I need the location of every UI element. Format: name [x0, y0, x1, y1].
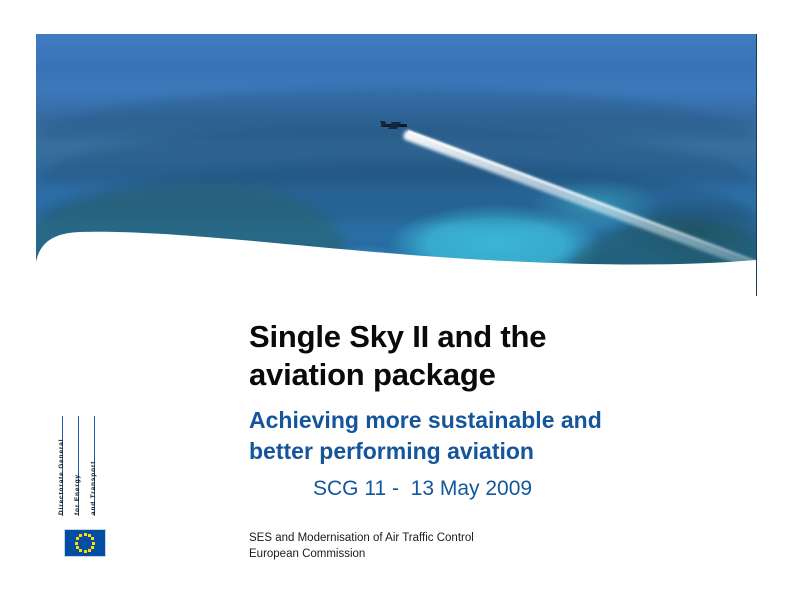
- eu-star-icon: [91, 537, 94, 540]
- eu-star-icon: [84, 550, 87, 553]
- dg-column-3: and Transport: [94, 416, 110, 516]
- eu-star-icon: [92, 542, 95, 545]
- airplane-wing: [388, 122, 401, 129]
- title-photo: [36, 34, 757, 296]
- eu-star-icon: [91, 546, 94, 549]
- eu-star-icon: [79, 549, 82, 552]
- eu-star-icon: [76, 546, 79, 549]
- subtitle-line-1: Achieving more sustainable and: [249, 405, 729, 436]
- eu-star-icon: [76, 537, 79, 540]
- dg-line-1: Directorate General: [58, 439, 65, 515]
- title-line-1: Single Sky II and the: [249, 318, 719, 356]
- dg-line-2: for Energy: [74, 474, 81, 515]
- dg-line-3: and Transport: [90, 461, 97, 515]
- page-title: Single Sky II and the aviation package: [249, 318, 719, 394]
- title-line-2: aviation package: [249, 356, 719, 394]
- airplane-tail: [380, 121, 387, 126]
- eu-star-icon: [75, 542, 78, 545]
- event-date-line: SCG 11 - 13 May 2009: [313, 477, 532, 501]
- eu-star-icon: [88, 549, 91, 552]
- eu-star-icon: [84, 533, 87, 536]
- eu-flag-icon: [64, 529, 106, 557]
- airplane-icon: [381, 122, 407, 129]
- presentation-slide: Directorate General for Energy and Trans…: [0, 0, 792, 612]
- white-wave-overlay: [36, 208, 756, 296]
- footer-line-1: SES and Modernisation of Air Traffic Con…: [249, 530, 474, 546]
- subtitle-line-2: better performing aviation: [249, 436, 729, 467]
- eu-star-icon: [79, 534, 82, 537]
- footer-line-2: European Commission: [249, 546, 474, 562]
- directorate-general-mark: Directorate General for Energy and Trans…: [62, 416, 108, 516]
- page-subtitle: Achieving more sustainable and better pe…: [249, 405, 729, 466]
- slide-footer: SES and Modernisation of Air Traffic Con…: [249, 530, 474, 563]
